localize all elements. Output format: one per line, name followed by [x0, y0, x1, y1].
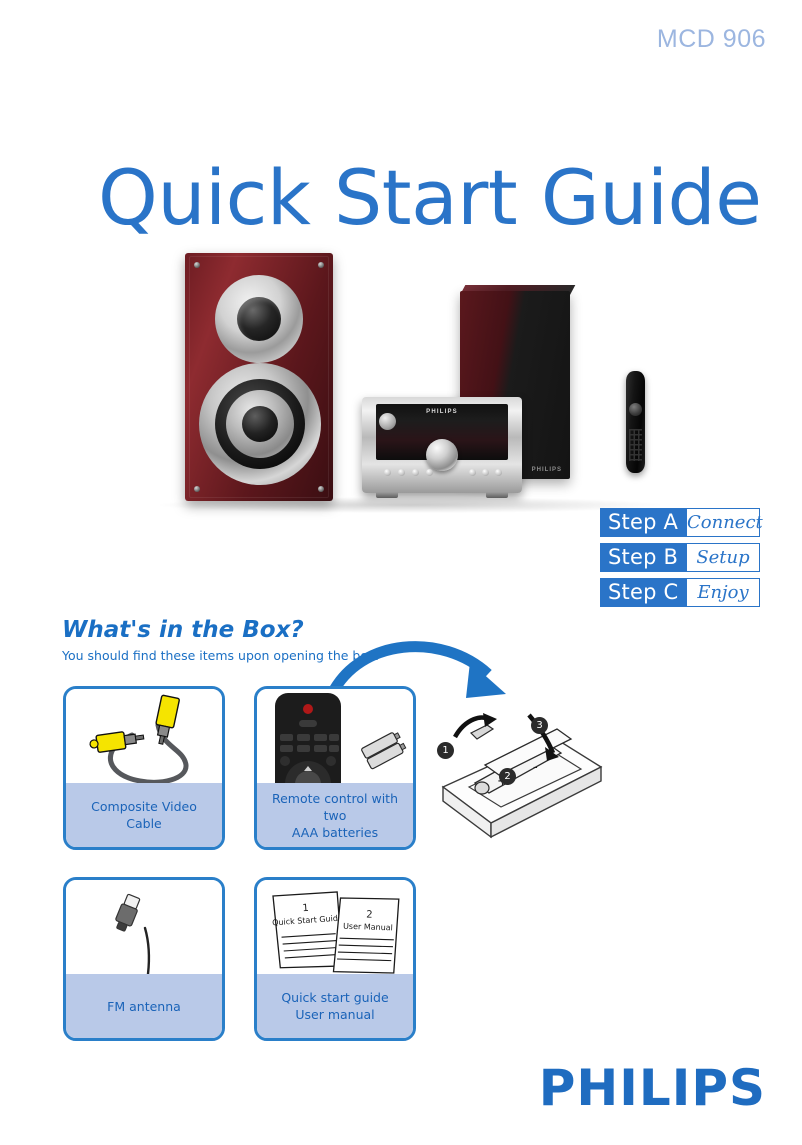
disc-tray-icon — [379, 413, 396, 430]
speaker-woofer — [199, 363, 321, 485]
remote-control-art — [257, 689, 413, 789]
main-hifi-unit: PHILIPS — [362, 397, 522, 493]
left-speaker — [185, 253, 333, 501]
quick-start-guide-page: MCD 906 Quick Start Guide PHILIPS PHILIP… — [0, 0, 802, 1145]
item-box-remote-control[interactable]: Remote control with two AAA batteries — [254, 686, 416, 850]
model-number: MCD 906 — [657, 25, 766, 54]
callout-1: 1 — [437, 742, 454, 759]
unit-button — [469, 469, 476, 476]
item-caption-remote-control: Remote control with two AAA batteries — [257, 783, 413, 847]
speaker-screw — [318, 262, 324, 268]
unit-button — [482, 469, 489, 476]
step-label-b: Step B — [601, 544, 687, 571]
composite-video-cable-icon — [66, 689, 222, 789]
steps-list: Step A Connect Step B Setup Step C Enjoy — [600, 508, 760, 613]
item-caption-composite-video-cable: Composite Video Cable — [66, 783, 222, 847]
whats-in-box-heading: What's in the Box? — [62, 617, 304, 643]
item-caption-fm-antenna: FM antenna — [66, 974, 222, 1038]
fm-antenna-art — [66, 880, 222, 980]
remote-keypad — [629, 429, 642, 461]
documents-icon: 1 Quick Start Guide 2 User Manual — [257, 880, 413, 980]
hero-remote-control — [626, 371, 645, 473]
speaker-tweeter — [215, 275, 303, 363]
product-shadow — [160, 497, 660, 513]
device-brand-label: PHILIPS — [426, 409, 458, 415]
unit-button — [412, 469, 419, 476]
speaker-woofer-dome — [199, 363, 321, 485]
callout-3: 3 — [531, 717, 548, 734]
item-box-documents[interactable]: 1 Quick Start Guide 2 User Manual — [254, 877, 416, 1041]
step-action-a: Connect — [687, 509, 763, 536]
step-row-b[interactable]: Step B Setup — [600, 543, 760, 572]
docs-caption-line2: User manual — [295, 1007, 374, 1022]
remote-control-icon — [257, 689, 413, 789]
speaker-screw — [194, 486, 200, 492]
step-row-c[interactable]: Step C Enjoy — [600, 578, 760, 607]
battery-insertion-illustration: + - — [425, 695, 610, 850]
remote-caption-line1: Remote control with two — [272, 791, 398, 823]
item-box-composite-video-cable[interactable]: Composite Video Cable — [63, 686, 225, 850]
doc-number-1: 1 — [302, 903, 309, 914]
docs-caption-line1: Quick start guide — [281, 990, 388, 1005]
speaker-screw — [318, 486, 324, 492]
svg-text:-: - — [533, 760, 538, 775]
callout-2: 2 — [499, 768, 516, 785]
composite-video-cable-art — [66, 689, 222, 789]
doc-title-2: User Manual — [343, 922, 393, 933]
speaker-screw — [194, 262, 200, 268]
battery-insertion-diagram: + - 1 2 3 — [425, 695, 610, 850]
fm-antenna-icon — [66, 880, 222, 980]
volume-knob — [426, 439, 458, 471]
item-caption-documents: Quick start guide User manual — [257, 974, 413, 1038]
documents-art: 1 Quick Start Guide 2 User Manual — [257, 880, 413, 980]
unit-button — [495, 469, 502, 476]
item-box-fm-antenna[interactable]: FM antenna — [63, 877, 225, 1041]
step-action-c: Enjoy — [687, 579, 759, 606]
step-row-a[interactable]: Step A Connect — [600, 508, 760, 537]
page-title: Quick Start Guide — [98, 155, 762, 241]
unit-button — [384, 469, 391, 476]
remote-nav-pad — [629, 403, 642, 416]
step-action-b: Setup — [687, 544, 759, 571]
speaker-brand-label: PHILIPS — [532, 467, 562, 473]
unit-button — [398, 469, 405, 476]
remote-caption-line2: AAA batteries — [292, 825, 378, 840]
aaa-batteries-icon — [361, 730, 407, 769]
philips-logo: PHILIPS — [539, 1059, 766, 1117]
unit-button — [426, 469, 433, 476]
product-hero-image: PHILIPS PHILIPS — [150, 245, 690, 515]
step-label-c: Step C — [601, 579, 687, 606]
step-label-a: Step A — [601, 509, 687, 536]
doc-number-2: 2 — [366, 910, 373, 921]
